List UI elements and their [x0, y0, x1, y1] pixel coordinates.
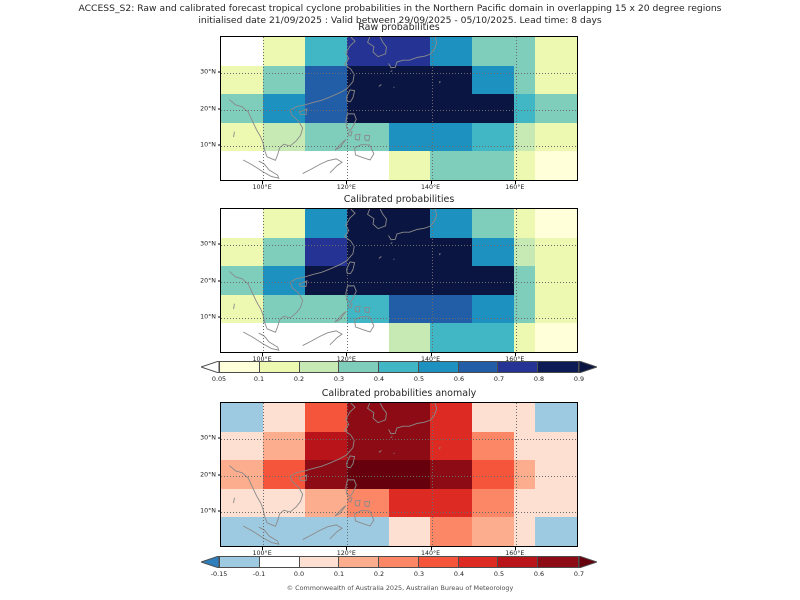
panel-calibrated-title: Calibrated probabilities: [220, 194, 578, 205]
x-tick-mark: [346, 181, 347, 184]
heatmap-cell: [535, 94, 577, 123]
heatmap-cell: [514, 432, 535, 461]
map-axes-calibrated[interactable]: [220, 208, 578, 353]
y-tick-label: 10°N: [200, 141, 216, 148]
colorbar-tick-label: 0.5: [494, 570, 504, 578]
colorbar-under-arrow: [201, 556, 219, 568]
heatmap-cell: [472, 151, 514, 180]
heatmap-cell: [389, 517, 431, 546]
heatmap-cell: [472, 37, 514, 66]
colorbar-segment: [459, 362, 499, 372]
heatmap-cell: [263, 295, 305, 324]
colorbar-tick-label: 0.05: [212, 375, 226, 383]
heatmap-cell: [263, 432, 305, 461]
heatmap-cell: [305, 460, 347, 489]
y-tick-label: 10°N: [200, 507, 216, 514]
heatmap-cell: [389, 323, 431, 352]
heatmap-cell: [472, 266, 514, 295]
colorbar-segment: [300, 557, 340, 567]
heatmap-grid-raw: [221, 37, 577, 180]
heatmap-cell: [430, 403, 472, 432]
x-tick-mark: [515, 181, 516, 184]
heatmap-cell: [430, 209, 472, 238]
colorbar-segment: [220, 557, 260, 567]
colorbar-tick-label: -0.15: [211, 570, 228, 578]
colorbar-tick-label: 0.1: [254, 375, 264, 383]
x-tick-label: 100°E: [253, 184, 272, 191]
colorbar-tick-label: 0.3: [334, 375, 344, 383]
y-tick-mark: [218, 474, 221, 475]
x-tick-mark: [431, 181, 432, 184]
heatmap-cell: [514, 266, 535, 295]
heatmap-cell: [305, 266, 347, 295]
panel-calibrated-anomaly: Calibrated probabilities anomaly 30°N20°…: [220, 402, 578, 547]
heatmap-cell: [221, 403, 263, 432]
colorbar-segment: [419, 557, 459, 567]
copyright-footer: © Commonwealth of Australia 2025, Austra…: [0, 584, 800, 592]
panel-calibrated-probabilities: Calibrated probabilities 30°N20°N10°N100…: [220, 208, 578, 353]
heatmap-cell: [472, 323, 514, 352]
x-tick-label: 120°E: [337, 184, 356, 191]
x-tick-mark: [431, 353, 432, 356]
heatmap-cell: [514, 123, 535, 152]
heatmap-cell: [389, 238, 431, 267]
heatmap-cell: [389, 209, 431, 238]
y-tick-mark: [218, 108, 221, 109]
colorbar-tick-label: 0.3: [414, 570, 424, 578]
heatmap-cell: [305, 295, 347, 324]
heatmap-cell: [514, 66, 535, 95]
heatmap-cell: [347, 403, 389, 432]
heatmap-cell: [430, 517, 472, 546]
colorbar-over-arrow: [579, 556, 597, 568]
colorbar-tick-label: 0.6: [534, 570, 544, 578]
colorbar-tick-label: 0.0: [294, 570, 304, 578]
heatmap-cell: [263, 151, 305, 180]
colorbar-tick-label: 0.1: [334, 570, 344, 578]
y-tick-label: 20°N: [200, 105, 216, 112]
heatmap-cell: [389, 94, 431, 123]
heatmap-cell: [472, 123, 514, 152]
heatmap-cell: [535, 432, 577, 461]
heatmap-cell: [535, 295, 577, 324]
heatmap-cell: [514, 238, 535, 267]
y-tick-label: 30°N: [200, 69, 216, 76]
heatmap-cell: [305, 123, 347, 152]
heatmap-cell: [221, 460, 263, 489]
heatmap-cell: [472, 209, 514, 238]
y-tick-mark: [218, 510, 221, 511]
heatmap-cell: [221, 151, 263, 180]
heatmap-cell: [221, 517, 263, 546]
heatmap-cell: [305, 209, 347, 238]
heatmap-cell: [263, 66, 305, 95]
heatmap-cell: [305, 489, 347, 518]
colorbar-segment: [498, 557, 538, 567]
heatmap-cell: [430, 295, 472, 324]
x-tick-mark: [262, 353, 263, 356]
heatmap-cell: [263, 209, 305, 238]
colorbar-tick-label: 0.5: [414, 375, 424, 383]
heatmap-cell: [305, 94, 347, 123]
y-tick-label: 20°N: [200, 277, 216, 284]
heatmap-cell: [347, 460, 389, 489]
heatmap-cell: [430, 151, 472, 180]
colorbar-probability[interactable]: 0.050.10.20.30.40.50.60.70.80.9: [219, 361, 579, 373]
heatmap-cell: [305, 432, 347, 461]
heatmap-cell: [221, 209, 263, 238]
heatmap-cell: [472, 517, 514, 546]
heatmap-cell: [514, 489, 535, 518]
y-tick-mark: [218, 72, 221, 73]
colorbar-tick-label: 0.2: [374, 570, 384, 578]
heatmap-cell: [221, 123, 263, 152]
heatmap-cell: [263, 123, 305, 152]
colorbar-anomaly-body: [219, 556, 579, 568]
heatmap-cell: [221, 66, 263, 95]
colorbar-tick-label: 0.9: [574, 375, 584, 383]
heatmap-cell: [430, 460, 472, 489]
y-tick-label: 30°N: [200, 435, 216, 442]
heatmap-cell: [472, 238, 514, 267]
colorbar-segment: [498, 362, 538, 372]
heatmap-cell: [221, 238, 263, 267]
heatmap-cell: [535, 489, 577, 518]
colorbar-anomaly[interactable]: -0.15-0.10.00.10.20.30.40.50.60.7: [219, 556, 579, 568]
heatmap-cell: [221, 266, 263, 295]
y-tick-label: 30°N: [200, 241, 216, 248]
panel-anomaly-title: Calibrated probabilities anomaly: [220, 388, 578, 399]
heatmap-cell: [514, 295, 535, 324]
y-tick-mark: [218, 244, 221, 245]
heatmap-cell: [305, 66, 347, 95]
heatmap-cell: [263, 238, 305, 267]
heatmap-cell: [305, 323, 347, 352]
heatmap-cell: [263, 489, 305, 518]
heatmap-cell: [347, 517, 389, 546]
y-tick-label: 20°N: [200, 471, 216, 478]
x-tick-mark: [431, 547, 432, 550]
colorbar-tick-label: 0.6: [454, 375, 464, 383]
heatmap-cell: [535, 209, 577, 238]
heatmap-cell: [347, 94, 389, 123]
colorbar-segment: [459, 557, 499, 567]
y-tick-label: 10°N: [200, 313, 216, 320]
heatmap-cell: [389, 66, 431, 95]
heatmap-cell: [389, 37, 431, 66]
heatmap-cell: [514, 323, 535, 352]
x-tick-mark: [346, 547, 347, 550]
heatmap-cell: [347, 123, 389, 152]
heatmap-cell: [389, 489, 431, 518]
y-tick-mark: [218, 280, 221, 281]
x-tick-label: 160°E: [505, 184, 524, 191]
heatmap-cell: [347, 432, 389, 461]
panel-raw-title: Raw probabilities: [220, 22, 578, 33]
y-tick-mark: [218, 316, 221, 317]
colorbar-segment: [260, 557, 300, 567]
heatmap-cell: [430, 66, 472, 95]
heatmap-cell: [221, 94, 263, 123]
heatmap-cell: [430, 94, 472, 123]
heatmap-cell: [472, 66, 514, 95]
heatmap-cell: [472, 403, 514, 432]
x-tick-mark: [515, 547, 516, 550]
colorbar-tick-label: 0.8: [534, 375, 544, 383]
heatmap-cell: [514, 94, 535, 123]
heatmap-cell: [514, 151, 535, 180]
colorbar-probability-body: [219, 361, 579, 373]
heatmap-cell: [347, 238, 389, 267]
panel-raw-probabilities: Raw probabilities 30°N20°N10°N100°E120°E…: [220, 36, 578, 181]
heatmap-cell: [514, 37, 535, 66]
heatmap-cell: [305, 403, 347, 432]
heatmap-cell: [347, 209, 389, 238]
map-axes-raw[interactable]: [220, 36, 578, 181]
colorbar-segment: [220, 362, 260, 372]
heatmap-cell: [347, 489, 389, 518]
colorbar-segment: [260, 362, 300, 372]
heatmap-cell: [535, 266, 577, 295]
heatmap-cell: [535, 460, 577, 489]
heatmap-cell: [263, 460, 305, 489]
heatmap-cell: [305, 517, 347, 546]
heatmap-cell: [389, 432, 431, 461]
heatmap-cell: [535, 66, 577, 95]
colorbar-segment: [379, 362, 419, 372]
heatmap-cell: [535, 403, 577, 432]
heatmap-cell: [535, 151, 577, 180]
heatmap-cell: [472, 489, 514, 518]
heatmap-cell: [221, 37, 263, 66]
heatmap-cell: [263, 37, 305, 66]
colorbar-over-arrow: [579, 361, 597, 373]
heatmap-cell: [389, 460, 431, 489]
heatmap-cell: [535, 238, 577, 267]
heatmap-cell: [389, 123, 431, 152]
heatmap-cell: [347, 266, 389, 295]
heatmap-cell: [430, 432, 472, 461]
colorbar-tick-label: 0.7: [494, 375, 504, 383]
x-tick-mark: [262, 181, 263, 184]
heatmap-cell: [535, 123, 577, 152]
x-tick-mark: [515, 353, 516, 356]
heatmap-cell: [472, 295, 514, 324]
heatmap-cell: [263, 266, 305, 295]
heatmap-cell: [263, 323, 305, 352]
x-tick-label: 140°E: [421, 184, 440, 191]
colorbar-segment: [339, 557, 379, 567]
heatmap-cell: [305, 151, 347, 180]
y-tick-mark: [218, 438, 221, 439]
heatmap-cell: [514, 209, 535, 238]
colorbar-segment: [538, 362, 578, 372]
heatmap-cell: [535, 37, 577, 66]
y-tick-mark: [218, 144, 221, 145]
heatmap-cell: [263, 517, 305, 546]
heatmap-cell: [263, 94, 305, 123]
heatmap-cell: [514, 460, 535, 489]
heatmap-cell: [389, 151, 431, 180]
heatmap-cell: [221, 432, 263, 461]
colorbar-segment: [300, 362, 340, 372]
colorbar-tick-label: 0.7: [574, 570, 584, 578]
heatmap-cell: [430, 489, 472, 518]
colorbar-under-arrow: [201, 361, 219, 373]
heatmap-cell: [430, 266, 472, 295]
heatmap-grid-calibrated: [221, 209, 577, 352]
heatmap-cell: [305, 238, 347, 267]
colorbar-tick-label: 0.2: [294, 375, 304, 383]
heatmap-cell: [430, 37, 472, 66]
colorbar-tick-label: 0.4: [374, 375, 384, 383]
heatmap-cell: [472, 94, 514, 123]
colorbar-segment: [379, 557, 419, 567]
colorbar-segment: [419, 362, 459, 372]
colorbar-segment: [339, 362, 379, 372]
heatmap-cell: [347, 295, 389, 324]
heatmap-cell: [221, 489, 263, 518]
heatmap-cell: [389, 295, 431, 324]
heatmap-cell: [347, 66, 389, 95]
heatmap-cell: [430, 238, 472, 267]
heatmap-cell: [347, 37, 389, 66]
map-axes-anomaly[interactable]: [220, 402, 578, 547]
heatmap-cell: [472, 432, 514, 461]
heatmap-grid-anomaly: [221, 403, 577, 546]
heatmap-cell: [430, 323, 472, 352]
heatmap-cell: [263, 403, 305, 432]
heatmap-cell: [535, 517, 577, 546]
heatmap-cell: [535, 323, 577, 352]
heatmap-cell: [347, 323, 389, 352]
heatmap-cell: [305, 37, 347, 66]
colorbar-tick-label: 0.4: [454, 570, 464, 578]
x-tick-mark: [262, 547, 263, 550]
heatmap-cell: [389, 403, 431, 432]
heatmap-cell: [472, 460, 514, 489]
colorbar-segment: [538, 557, 578, 567]
heatmap-cell: [347, 151, 389, 180]
colorbar-tick-label: -0.1: [253, 570, 265, 578]
heatmap-cell: [514, 517, 535, 546]
heatmap-cell: [221, 323, 263, 352]
heatmap-cell: [221, 295, 263, 324]
heatmap-cell: [430, 123, 472, 152]
heatmap-cell: [389, 266, 431, 295]
heatmap-cell: [514, 403, 535, 432]
x-tick-mark: [346, 353, 347, 356]
